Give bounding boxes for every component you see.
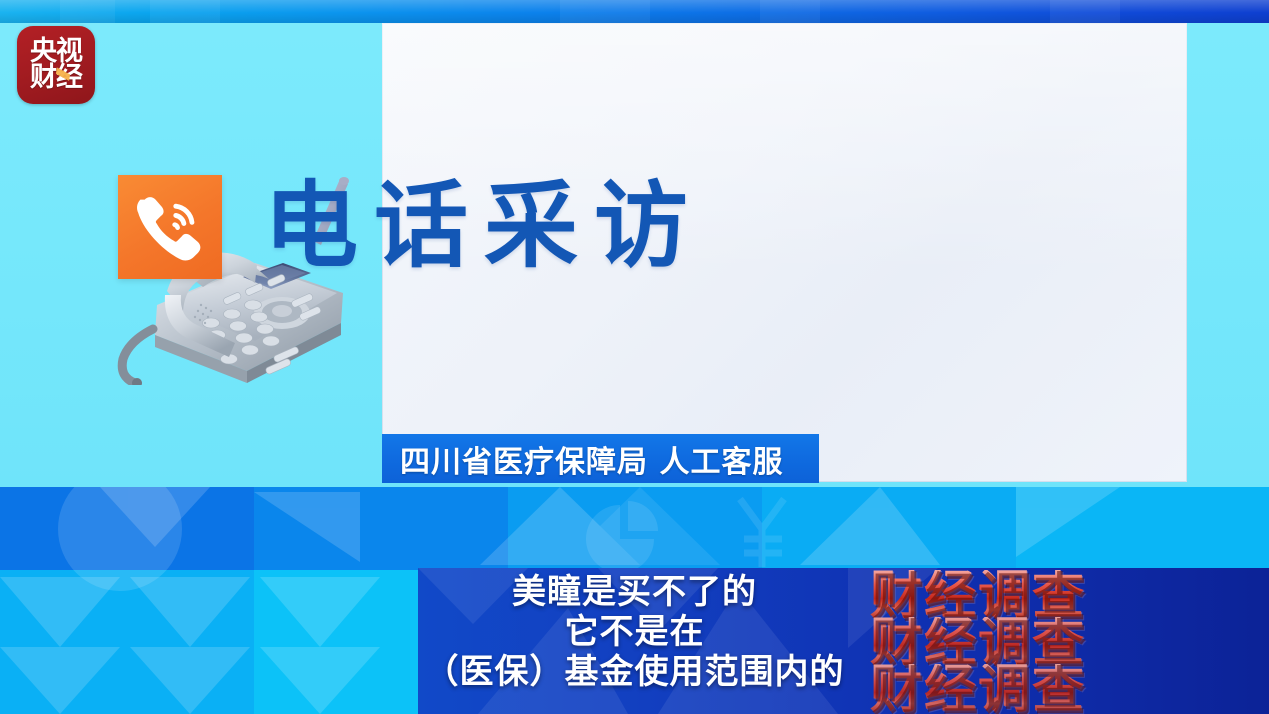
interview-title-row: 电话采访 xyxy=(118,175,704,279)
subtitle-line: （医保）基金使用范围内的 xyxy=(425,652,845,692)
program-logo: 财经调查 财经调查 财经调查 xyxy=(870,570,1160,714)
subtitle-line: 美瞳是买不了的 xyxy=(512,572,757,612)
interviewee-caption-bar: 四川省医疗保障局 人工客服 xyxy=(382,434,819,483)
cctv-finance-logo: 央视 财经 xyxy=(17,26,95,104)
broadcast-screenshot: 央视 财经 xyxy=(0,0,1269,714)
program-logo-line: 财经调查 xyxy=(870,664,1086,714)
interviewee-caption-text: 四川省医疗保障局 人工客服 xyxy=(400,437,783,481)
cctv-logo-line2: 财经 xyxy=(30,65,82,91)
top-gradient-bar xyxy=(0,0,1269,23)
page-title: 电话采访 xyxy=(264,180,704,274)
subtitle-line: 它不是在 xyxy=(565,612,705,652)
phone-call-icon xyxy=(118,175,222,279)
